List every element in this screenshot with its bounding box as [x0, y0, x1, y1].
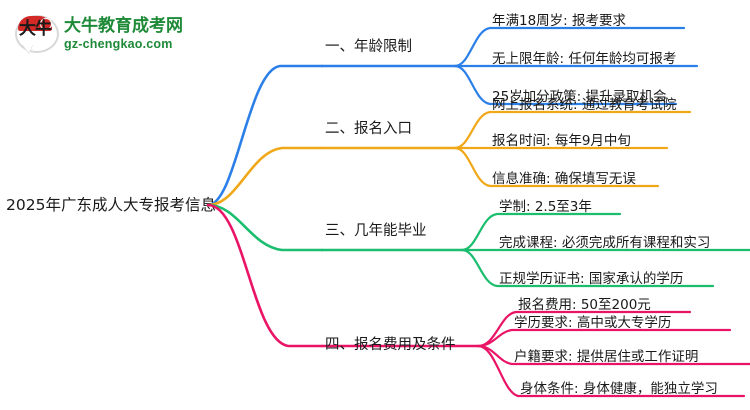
branch-2-wires [208, 112, 690, 205]
leaf-label-2-3[interactable]: 信息准确: 确保填写无误 [492, 167, 636, 187]
leaf-label-4-4[interactable]: 身体条件: 身体健康，能独立学习 [520, 377, 718, 397]
branch-label-1[interactable]: 一、年龄限制 [325, 35, 412, 56]
leaf-label-2-1[interactable]: 网上报名系统: 通过教育考试院 [492, 93, 676, 113]
branch-label-4[interactable]: 四、报名费用及条件 [325, 333, 456, 354]
leaf-label-1-2[interactable]: 无上限年龄: 任何年龄均可报考 [492, 47, 676, 67]
leaf-label-3-1[interactable]: 学制: 2.5至3年 [499, 195, 592, 215]
branch-label-2[interactable]: 二、报名入口 [325, 117, 412, 138]
leaf-label-3-3[interactable]: 正规学历证书: 国家承认的学历 [499, 267, 683, 287]
leaf-label-1-1[interactable]: 年满18周岁: 报考要求 [492, 9, 626, 29]
mindmap-canvas: 大牛 大牛教育成考网 gz-chengkao.com 2025年广东成人大专报考… [0, 0, 750, 410]
leaf-label-3-2[interactable]: 完成课程: 必须完成所有课程和实习 [499, 231, 710, 251]
leaf-label-4-3[interactable]: 户籍要求: 提供居住或工作证明 [514, 345, 698, 365]
leaf-label-4-1[interactable]: 报名费用: 50至200元 [518, 293, 651, 313]
leaf-label-4-2[interactable]: 学历要求: 高中或大专学历 [514, 311, 671, 331]
branch-label-3[interactable]: 三、几年能毕业 [325, 219, 427, 240]
leaf-label-2-2[interactable]: 报名时间: 每年9月中旬 [492, 129, 631, 149]
